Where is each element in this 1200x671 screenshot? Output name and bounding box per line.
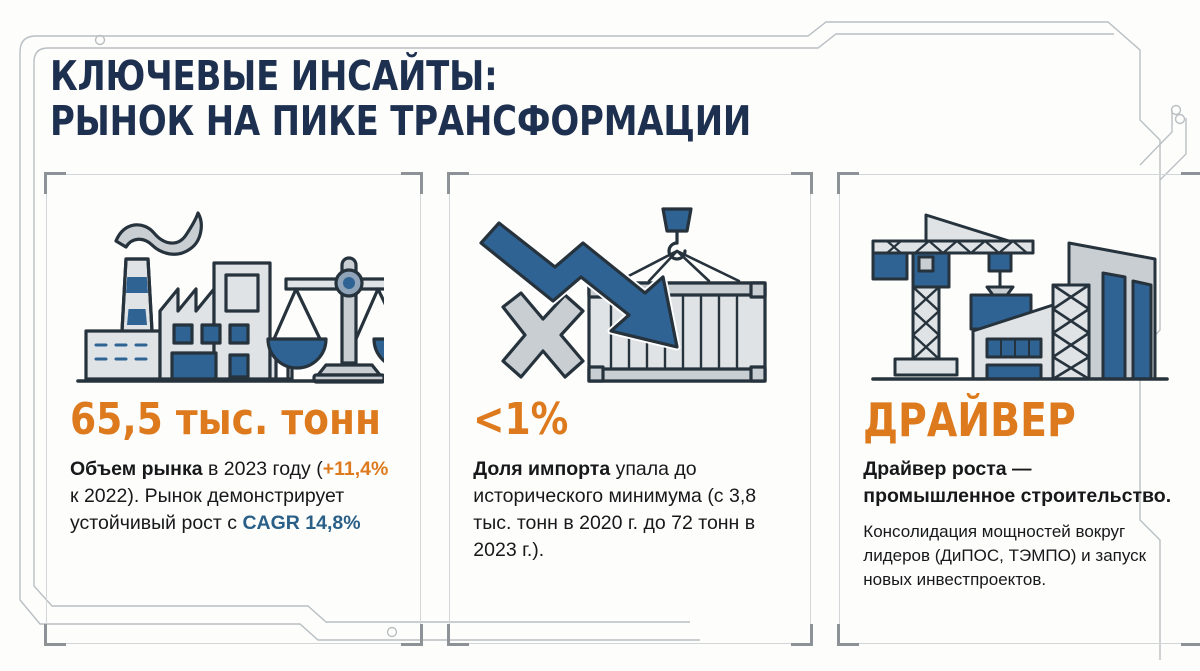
card-body: Драйвер роста — промышленное строительст… <box>863 456 1177 510</box>
body-delta-value: +11,4% <box>323 458 389 480</box>
insight-card-growth-driver: ДРАЙВЕР Драйвер роста — промышленное стр… <box>839 174 1200 644</box>
card-headline: <1% <box>473 396 771 444</box>
card-sub-text: Консолидация мощностей вокруг лидеров (Д… <box>863 520 1177 592</box>
insight-card-import-share: <1% Доля импорта упала до исторического … <box>449 174 811 644</box>
construction-crane-icon <box>863 196 1177 396</box>
body-text-1: в 2023 году ( <box>203 458 323 480</box>
insight-card-market-volume: 65,5 тыс. тонн Объем рынка в 2023 году (… <box>46 174 421 644</box>
card-body: Доля импорта упала до исторического мини… <box>473 456 787 564</box>
card-headline: 65,5 тыс. тонн <box>70 396 381 444</box>
insight-cards: 65,5 тыс. тонн Объем рынка в 2023 году (… <box>46 174 1166 644</box>
title-line-2: РЫНОК НА ПИКЕ ТРАНСФОРМАЦИИ <box>50 99 952 144</box>
infographic-page: КЛЮЧЕВЫЕ ИНСАЙТЫ: РЫНОК НА ПИКЕ ТРАНСФОР… <box>36 26 1170 646</box>
title-line-1: КЛЮЧЕВЫЕ ИНСАЙТЫ: <box>50 54 952 99</box>
page-title: КЛЮЧЕВЫЕ ИНСАЙТЫ: РЫНОК НА ПИКЕ ТРАНСФОР… <box>50 54 1030 144</box>
body-cagr-value: CAGR 14,8% <box>242 512 360 534</box>
declining-arrow-container-icon <box>473 196 787 396</box>
card-headline: ДРАЙВЕР <box>863 396 1161 444</box>
factory-and-scales-icon <box>70 196 397 396</box>
body-emphasis: Доля импорта <box>473 458 610 480</box>
body-emphasis: Драйвер роста — промышленное строительст… <box>863 458 1171 507</box>
card-body: Объем рынка в 2023 году (+11,4% к 2022).… <box>70 456 397 537</box>
body-emphasis: Объем рынка <box>70 458 203 480</box>
